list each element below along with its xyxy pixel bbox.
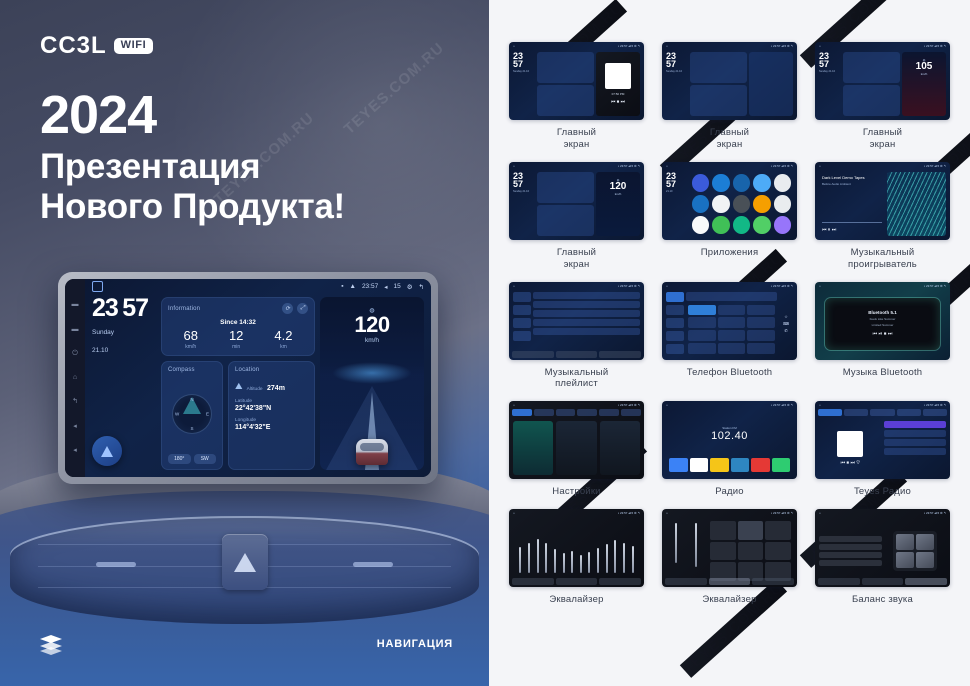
compass-title: Compass	[168, 367, 216, 373]
clock-date-text: 21.10	[92, 347, 108, 354]
headline: 2024 Презентация Нового Продукта!	[40, 88, 345, 227]
altitude-block: Altitude 274m	[247, 377, 285, 395]
navigation-arrow-icon	[101, 446, 113, 457]
hw-home-icon[interactable]: ⌂	[71, 374, 79, 382]
widget-column: Information ⟳ ⤢ Since 14:32 68	[161, 297, 315, 470]
layers-stack-icon	[40, 635, 62, 652]
gallery-cell[interactable]: ⌂▪ 23:57 ◂15 ⚙ ↰ 2357Sunday 21.10 ◍ 120 …	[509, 162, 644, 271]
head-unit-inner: ▬ ▬ ⏻ ⌂ ↰ ◂ ◂ ▪ ▲ 23:57 ◂	[65, 279, 431, 477]
longitude-value: 114°4'32"E	[235, 424, 308, 433]
thumbnail-home-drive[interactable]: ⌂▪ 23:57 ◂15 ⚙ ↰ 2357Sunday 21.10 ◍ 105 …	[815, 42, 950, 120]
refresh-icon[interactable]: ⟳	[282, 303, 293, 314]
vehicle-3d-model	[356, 439, 388, 465]
speed-readout: ◍ 120 km/h	[320, 307, 424, 344]
lower-widget-row: Compass N S E W	[161, 361, 315, 470]
equalizer-sliders[interactable]	[666, 519, 706, 583]
compass-n: N	[190, 397, 193, 402]
main-screen: ▪ ▲ 23:57 ◂ 15 ⚙ ↰ 23 57	[85, 279, 431, 477]
player-track: Dark Level Demo Tapes	[822, 175, 882, 180]
gallery-cell[interactable]: ⌂▪ 23:57 ◂15 ⚙ ↰ ⏮ ⏹ ⏭ ♡ Teyes	[815, 401, 950, 498]
call-icon[interactable]: ✆	[784, 328, 787, 333]
bt-transport-controls[interactable]: ⏮ ⏯ ⏹ ⏭	[873, 331, 893, 337]
compass-card[interactable]: Compass N S E W	[161, 361, 223, 470]
screen-widgets: 23 57 Sunday 21.10	[85, 294, 431, 477]
gallery-cell[interactable]: ⌂▪ 23:57 ◂15 ⚙ ↰	[662, 282, 797, 391]
gallery-caption: Главныйэкран	[509, 127, 644, 151]
gallery-caption: Teyes Радио	[815, 486, 950, 498]
altitude-value: 274m	[267, 385, 285, 392]
gallery-caption: Телефон Bluetooth	[662, 367, 797, 379]
gallery-caption: Музыка Bluetooth	[815, 367, 950, 379]
hw-prev-icon[interactable]: ▬	[71, 301, 79, 309]
thumbnail-teyes-radio[interactable]: ⌂▪ 23:57 ◂15 ⚙ ↰ ⏮ ⏹ ⏭ ♡	[815, 401, 950, 479]
trip-stat: 4.2 km	[274, 329, 292, 350]
vent-slot-left	[96, 562, 136, 567]
signal-icon: ▪	[341, 283, 343, 290]
thumbnail-settings[interactable]: ⌂▪ 23:57 ◂15 ⚙ ↰	[509, 401, 644, 479]
speed-value: 120	[320, 314, 424, 336]
home-icon[interactable]	[92, 281, 103, 292]
mountain-icon: ⛰	[235, 381, 243, 392]
gallery-row: ⌂▪ 23:57 ◂15 ⚙ ↰ Настройки	[509, 401, 950, 498]
compass-face: N S E W	[172, 394, 212, 434]
hw-back-icon[interactable]: ↰	[71, 398, 79, 406]
driving-view-card[interactable]: ◍ 120 km/h	[320, 297, 424, 470]
gallery-cell[interactable]: ⌂▪ 23:57 ◂15 ⚙ ↰ 2357Sunday 21.10 07:50 …	[509, 42, 644, 151]
thumbnail-bt-music[interactable]: ⌂▪ 23:57 ◂15 ⚙ ↰ Bluetooth 5.1 Feels Lik…	[815, 282, 950, 360]
headline-line-2: Нового Продукта!	[40, 187, 345, 227]
hero-panel: TEYES.COM.RU TEYES.COM.RU TEYES.COM.RU T…	[0, 0, 489, 686]
stat-value: 12	[229, 329, 243, 342]
gallery-caption: Эквалайзер	[662, 594, 797, 606]
hw-volume-up-icon[interactable]: ◂	[71, 447, 79, 455]
keypad-icon[interactable]: ⌨	[783, 321, 789, 326]
latitude-value: 22°42'38"N	[235, 405, 308, 414]
information-card[interactable]: Information ⟳ ⤢ Since 14:32 68	[161, 297, 315, 356]
hw-next-icon[interactable]: ▬	[71, 326, 79, 334]
presentation-page: TEYES.COM.RU TEYES.COM.RU TEYES.COM.RU T…	[0, 0, 970, 686]
wifi-tile[interactable]	[513, 421, 553, 475]
status-bar: ▪ ▲ 23:57 ◂ 15 ⚙ ↰	[85, 279, 431, 294]
information-header: Information ⟳ ⤢	[168, 303, 308, 314]
thumbnail-sound-balance[interactable]: ⌂▪ 23:57 ◂15 ⚙ ↰	[815, 509, 950, 587]
gallery-caption: Главныйэкран	[662, 127, 797, 151]
bt-artist: Limited Summer	[872, 323, 894, 327]
latitude-row: Latitude 22°42'38"N	[235, 399, 308, 414]
altitude-row: ⛰ Altitude 274m	[235, 377, 308, 395]
volume-level: 15	[393, 283, 400, 290]
thumbnail-music-playlist[interactable]: ⌂▪ 23:57 ◂15 ⚙ ↰	[509, 282, 644, 360]
gallery-cell[interactable]: ⌂▪ 23:57 ◂15 ⚙ ↰ 2357Sunday 21.10	[662, 42, 797, 151]
gallery-caption: Главныйэкран	[815, 127, 950, 151]
balance-pad[interactable]	[884, 519, 947, 583]
clock-day-text: Sunday	[92, 329, 114, 336]
thumbnail-music-player[interactable]: ⌂▪ 23:57 ◂15 ⚙ ↰ Dark Level Demo Tapes B…	[815, 162, 950, 240]
hardware-button-column: ▬ ▬ ⏻ ⌂ ↰ ◂ ◂	[65, 279, 85, 477]
gallery-cell[interactable]: ⌂▪ 23:57 ◂15 ⚙ ↰ Эквалайзер	[662, 509, 797, 606]
watermark: TEYES.COM.RU	[341, 39, 448, 138]
wifi-badge: WIFI	[114, 38, 154, 54]
compass-s: S	[190, 426, 193, 431]
more-tile[interactable]	[600, 421, 640, 475]
gallery-caption: Эквалайзер	[509, 594, 644, 606]
gallery-cell[interactable]: ⌂▪ 23:57 ◂15 ⚙ ↰ Настройки	[509, 401, 644, 498]
gallery-cell[interactable]: ⌂▪ 23:57 ◂15 ⚙ ↰ 235721.10	[662, 162, 797, 271]
thumbnail-home-media[interactable]: ⌂▪ 23:57 ◂15 ⚙ ↰ 2357Sunday 21.10 07:50 …	[509, 42, 644, 120]
trip-since: Since 14:32	[168, 319, 308, 326]
gallery-row: ⌂▪ 23:57 ◂15 ⚙ ↰ Музыкальныйплейлист ⌂▪ …	[509, 282, 950, 391]
logo-text: CC3L	[40, 32, 107, 60]
radio-frequency: 102.40	[711, 430, 748, 442]
gallery-row: ⌂▪ 23:57 ◂15 ⚙ ↰ 2357Sunday 21.10 07:50 …	[509, 42, 950, 151]
wifi-icon[interactable]: ▲	[350, 283, 356, 290]
gallery-cell[interactable]: ⌂▪ 23:57 ◂15 ⚙ ↰ Музыкальныйплейлист	[509, 282, 644, 391]
stat-unit: min	[229, 344, 243, 350]
thumbnail-radio[interactable]: ⌂▪ 23:57 ◂15 ⚙ ↰ Station FM 102.40	[662, 401, 797, 479]
information-actions: ⟳ ⤢	[282, 303, 308, 314]
hw-power-icon[interactable]: ⏻	[71, 350, 79, 358]
equalizer-band-sliders[interactable]	[513, 519, 640, 583]
navigation-fab-button[interactable]	[92, 436, 122, 466]
bt-track: Feels Like Summer	[870, 317, 896, 321]
speed-unit: km/h	[320, 337, 424, 344]
location-card[interactable]: Location ⛰ Altitude 274m	[228, 361, 315, 470]
thumbnail-equalizer-bands[interactable]: ⌂▪ 23:57 ◂15 ⚙ ↰	[509, 509, 644, 587]
gallery-row: ⌂▪ 23:57 ◂15 ⚙ ↰ Эквалайзер	[509, 509, 950, 606]
gallery-row: ⌂▪ 23:57 ◂15 ⚙ ↰ 2357Sunday 21.10 ◍ 120 …	[509, 162, 950, 271]
clock-column: 23 57 Sunday 21.10	[92, 297, 156, 470]
headline-line-1: Презентация	[40, 147, 345, 187]
thumbnail-home-speed[interactable]: ⌂▪ 23:57 ◂15 ⚙ ↰ 2357Sunday 21.10 ◍ 120 …	[509, 162, 644, 240]
clock-hours: 23	[92, 294, 118, 322]
bt-now-playing: Bluetooth 5.1 Feels Like Summer Limited …	[825, 298, 940, 350]
location-title: Location	[235, 367, 308, 373]
trip-stat: 12 min	[229, 329, 243, 350]
hw-volume-down-icon[interactable]: ◂	[71, 423, 79, 431]
compass-direction: SW	[194, 454, 217, 464]
longitude-row: Longitude 114°4'32"E	[235, 418, 308, 433]
clock-day: Sunday 21.10	[92, 329, 114, 354]
gear-icon[interactable]: ⚙	[407, 283, 413, 291]
stat-unit: km	[274, 344, 292, 350]
screenshot-gallery-panel: TEYES.COM.RU TEYES.COM.RU TEYES.COM.RU T…	[489, 0, 970, 686]
stat-unit: km/h	[183, 344, 197, 350]
clock-minutes: 57	[122, 294, 148, 322]
compass-readouts: 180° SW	[168, 454, 216, 464]
hero-footer: НАВИГАЦИЯ	[40, 635, 453, 652]
gallery-caption: Настройки	[509, 486, 644, 498]
hazard-triangle-icon	[234, 553, 256, 572]
favorite-icon[interactable]: ☆	[784, 314, 788, 319]
head-unit: ▬ ▬ ⏻ ⌂ ↰ ◂ ◂ ▪ ▲ 23:57 ◂	[58, 272, 438, 484]
footer-label: НАВИГАЦИЯ	[377, 638, 453, 650]
gallery-caption: Баланс звука	[815, 594, 950, 606]
gallery-cell[interactable]: ⌂▪ 23:57 ◂15 ⚙ ↰ Dark Level Demo Tapes B…	[815, 162, 950, 271]
gallery-caption: Музыкальныйплейлист	[509, 367, 644, 391]
thumbnail-app-drawer[interactable]: ⌂▪ 23:57 ◂15 ⚙ ↰ 235721.10	[662, 162, 797, 240]
radio-presets[interactable]	[666, 458, 793, 475]
thumbnail-bt-phone[interactable]: ⌂▪ 23:57 ◂15 ⚙ ↰	[662, 282, 797, 360]
gallery-caption: Музыкальныйпроигрыватель	[815, 247, 950, 271]
information-title: Information	[168, 306, 200, 312]
audio-visualizer	[887, 172, 947, 236]
gallery-cell[interactable]: ⌂▪ 23:57 ◂15 ⚙ ↰ Bluetooth 5.1 Feels Lik…	[815, 282, 950, 391]
trip-stats: 68 km/h 12 min 4.2 km	[168, 329, 308, 350]
preset-keypad[interactable]	[708, 519, 793, 583]
clock-widget: 23 57 Sunday 21.10	[92, 297, 156, 357]
gallery-grid: ⌂▪ 23:57 ◂15 ⚙ ↰ 2357Sunday 21.10 07:50 …	[489, 0, 970, 606]
radio-readout: Station FM 102.40	[666, 411, 793, 456]
trip-stat: 68 km/h	[183, 329, 197, 350]
compass-e: E	[206, 411, 209, 416]
headline-year: 2024	[40, 88, 345, 143]
vent-slot-right	[353, 562, 393, 567]
gallery-cell[interactable]: ⌂▪ 23:57 ◂15 ⚙ ↰ 2357Sunday 21.10 ◍ 105 …	[815, 42, 950, 151]
gallery-caption: Главныйэкран	[509, 247, 644, 271]
volume-icon[interactable]: ◂	[384, 283, 387, 291]
stat-value: 4.2	[274, 329, 292, 342]
bt-version: Bluetooth 5.1	[868, 310, 897, 315]
expand-icon[interactable]: ⤢	[297, 303, 308, 314]
gallery-caption: Радио	[662, 486, 797, 498]
gallery-cell[interactable]: ⌂▪ 23:57 ◂15 ⚙ ↰ Эквалайзер	[509, 509, 644, 606]
compass-w: W	[175, 411, 179, 416]
compass-dial: N S E W	[168, 376, 216, 451]
gallery-cell[interactable]: ⌂▪ 23:57 ◂15 ⚙ ↰ Баланс звука	[815, 509, 950, 606]
traffic-tile[interactable]	[556, 421, 596, 475]
altitude-label: Altitude	[247, 387, 263, 392]
product-logo: CC3L WIFI	[40, 32, 153, 60]
stat-value: 68	[183, 329, 197, 342]
gallery-cell[interactable]: ⌂▪ 23:57 ◂15 ⚙ ↰ Station FM 102.40	[662, 401, 797, 498]
compass-heading: 180°	[168, 454, 191, 464]
thumbnail-home-apps[interactable]: ⌂▪ 23:57 ◂15 ⚙ ↰ 2357Sunday 21.10	[662, 42, 797, 120]
thumbnail-equalizer-simple[interactable]: ⌂▪ 23:57 ◂15 ⚙ ↰	[662, 509, 797, 587]
status-time: 23:57	[362, 283, 378, 290]
back-arrow-icon[interactable]: ↰	[419, 283, 424, 291]
hazard-light-button[interactable]	[222, 534, 268, 590]
gallery-caption: Приложения	[662, 247, 797, 259]
